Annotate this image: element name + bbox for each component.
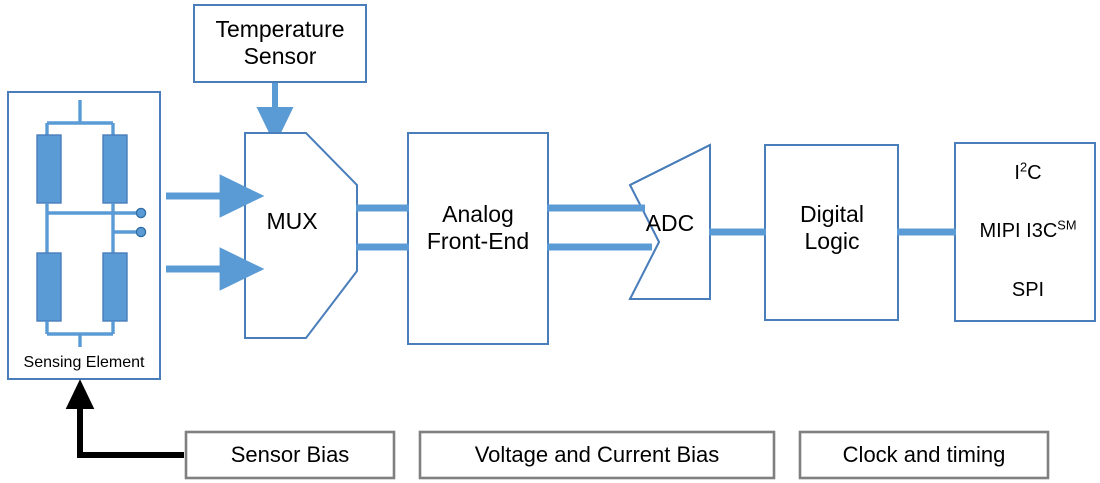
- bias-label-clock-timing: Clock and timing: [800, 432, 1048, 478]
- resistor-bottom-right: [103, 253, 127, 321]
- bias-label-voltage-current-bias: Voltage and Current Bias: [420, 432, 774, 478]
- temperature-sensor-block: [194, 5, 366, 82]
- analog-front-end-block: [408, 133, 548, 344]
- bridge-output-node-2: [136, 227, 145, 236]
- interface-line-spi: SPI: [1012, 279, 1044, 302]
- interface-line-mipi-i3c: MIPI I3CSM: [980, 220, 1077, 243]
- resistor-top-right: [103, 135, 127, 203]
- mux-block: [245, 133, 357, 338]
- resistor-top-left: [37, 135, 61, 203]
- resistor-bottom-left: [37, 253, 61, 321]
- interface-line-i2c: I2C: [1014, 162, 1041, 185]
- bridge-output-node-1: [136, 208, 145, 217]
- digital-logic-block: [765, 145, 898, 320]
- interface-label-group: I2C MIPI I3CSM SPI: [958, 144, 1098, 320]
- bias-label-sensor-bias: Sensor Bias: [186, 432, 394, 478]
- block-diagram-canvas: Temperature Sensor MUX Analog Front-End …: [0, 0, 1100, 483]
- diagram-vector-layer: [0, 0, 1100, 483]
- conn-sensor-bias-to-sensing-element: [80, 396, 184, 455]
